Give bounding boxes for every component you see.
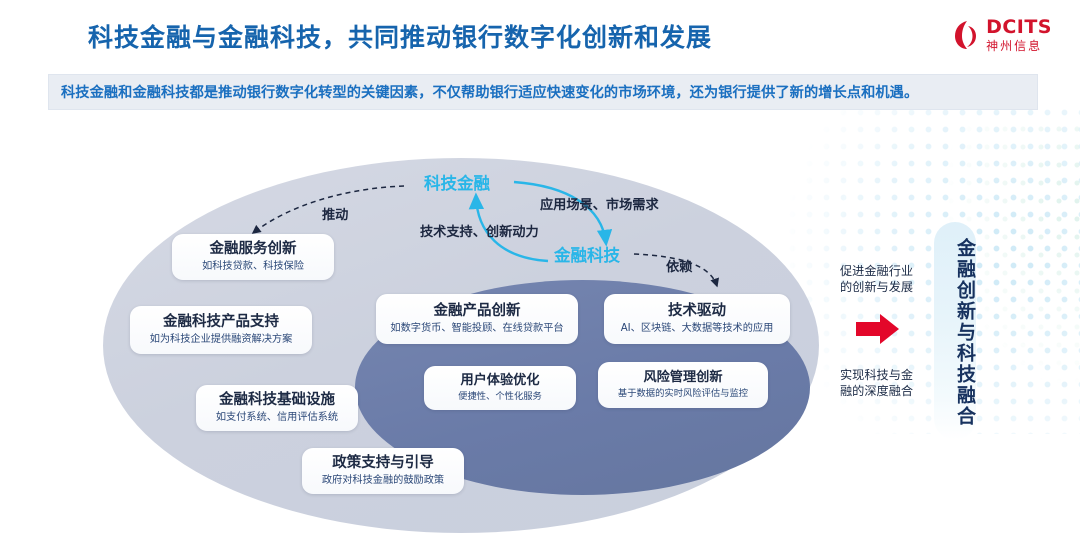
slide-canvas: 科技金融与金融科技，共同推动银行数字化创新和发展 DCITS 神州信息 科技金融…: [0, 0, 1080, 540]
card-title: 金融产品创新: [434, 303, 521, 320]
card-subtitle: 便捷性、个性化服务: [458, 392, 542, 403]
label-drive: 推动: [322, 204, 348, 223]
label-tech-finance: 科技金融: [424, 170, 490, 194]
note-deep-integration: 实现科技与金融的深度融合: [840, 367, 928, 399]
note-promote-innovation: 促进金融行业的创新与发展: [840, 263, 928, 295]
card-subtitle: 如为科技企业提供融资解决方案: [150, 334, 293, 346]
card-subtitle: 如数字货币、智能投顾、在线贷款平台: [390, 323, 563, 335]
card-user-experience-optimization[interactable]: 用户体验优化 便捷性、个性化服务: [424, 366, 576, 410]
dcits-logo-icon: [954, 20, 980, 50]
card-subtitle: 政府对科技金融的鼓励政策: [322, 475, 444, 487]
card-fintech-product-support[interactable]: 金融科技产品支持 如为科技企业提供融资解决方案: [130, 306, 312, 354]
card-title: 政策支持与引导: [332, 455, 434, 472]
card-subtitle: AI、区块链、大数据等技术的应用: [621, 323, 774, 335]
card-title: 用户体验优化: [460, 373, 539, 389]
brand-logo: DCITS 神州信息: [954, 18, 1052, 52]
card-subtitle: 如支付系统、信用评估系统: [216, 412, 338, 424]
card-subtitle: 基于数据的实时风险评估与监控: [618, 389, 748, 400]
card-title: 技术驱动: [668, 303, 726, 320]
card-risk-management-innovation[interactable]: 风险管理创新 基于数据的实时风险评估与监控: [598, 362, 768, 408]
label-tech-support: 技术支持、创新动力: [420, 221, 539, 240]
card-title: 风险管理创新: [643, 370, 722, 386]
subtitle-text: 科技金融和金融科技都是推动银行数字化转型的关键因素，不仅帮助银行适应快速变化的市…: [49, 82, 918, 102]
label-fintech: 金融科技: [554, 242, 620, 266]
card-title: 金融服务创新: [210, 241, 297, 258]
label-depend: 依赖: [666, 256, 692, 275]
card-technology-driven[interactable]: 技术驱动 AI、区块链、大数据等技术的应用: [604, 294, 790, 344]
card-title: 金融科技产品支持: [163, 314, 279, 331]
red-arrow-icon: [856, 312, 900, 346]
logo-text-en: DCITS: [986, 18, 1052, 37]
subtitle-banner: 科技金融和金融科技都是推动银行数字化转型的关键因素，不仅帮助银行适应快速变化的市…: [48, 74, 1038, 110]
card-fintech-infrastructure[interactable]: 金融科技基础设施 如支付系统、信用评估系统: [196, 385, 358, 431]
logo-text-cn: 神州信息: [986, 40, 1052, 52]
label-scenario-demand: 应用场景、市场需求: [540, 194, 659, 213]
card-financial-service-innovation[interactable]: 金融服务创新 如科技贷款、科技保险: [172, 234, 334, 280]
vertical-title-text: 金融创新与科技融合: [936, 238, 974, 427]
card-subtitle: 如科技贷款、科技保险: [202, 261, 304, 273]
card-financial-product-innovation[interactable]: 金融产品创新 如数字货币、智能投顾、在线贷款平台: [376, 294, 578, 344]
card-policy-support[interactable]: 政策支持与引导 政府对科技金融的鼓励政策: [302, 448, 464, 494]
card-title: 金融科技基础设施: [219, 392, 335, 409]
page-title: 科技金融与金融科技，共同推动银行数字化创新和发展: [88, 18, 712, 54]
